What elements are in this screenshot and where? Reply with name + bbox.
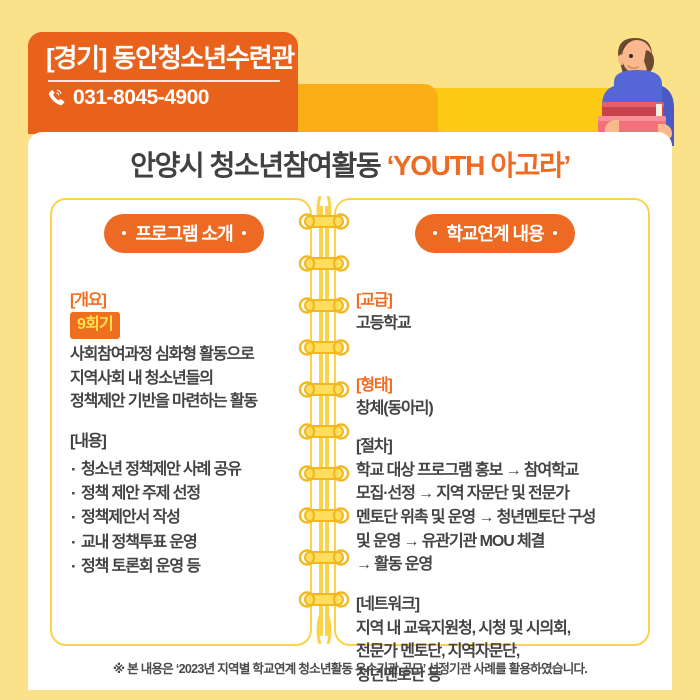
content-label: [내용] — [70, 430, 298, 454]
content-bullet-list: 청소년 정책제안 사례 공유 정책 제안 주제 선정 정책제안서 작성 교내 정… — [70, 458, 298, 580]
overview-label: [개요] — [70, 292, 106, 309]
program-intro-pill: 프로그램 소개 — [104, 214, 263, 253]
phone-number: 031-8045-4900 — [73, 86, 209, 110]
program-intro-card: 프로그램 소개 [개요] 9회기 사회참여과정 심화형 활동으로 지역사회 내 … — [50, 198, 312, 646]
type-row: [형태] 창체(동아리) — [356, 350, 634, 421]
section-gap — [356, 577, 634, 593]
list-item: 청소년 정책제안 사례 공유 — [70, 458, 298, 482]
grade-value: 고등학교 — [356, 315, 410, 332]
overview-badge: 9회기 — [70, 312, 120, 339]
school-linkage-pill-label: 학교연계 내용 — [446, 220, 543, 246]
infographic-card: [경기] 동안청소년수련관 031-8045-4900 안양시 청소년참여활동 … — [0, 0, 700, 700]
phone-icon — [46, 88, 66, 108]
list-item: 교내 정책투표 운영 — [70, 531, 298, 555]
list-item: 정책 토론회 운영 등 — [70, 555, 298, 579]
network-text: 지역 내 교육지원청, 시청 및 시의회, 전문가 멘토단, 지역자문단, 청년… — [356, 617, 634, 688]
list-item: 정책제안서 작성 — [70, 506, 298, 530]
phone-row: 031-8045-4900 — [46, 86, 282, 110]
school-linkage-pill-wrap: 학교연계 내용 — [356, 214, 634, 253]
organization-header: [경기] 동안청소년수련관 031-8045-4900 — [28, 32, 298, 134]
page-title-highlight: ‘YOUTH 아고라’ — [387, 150, 570, 181]
bullet-dot-icon — [433, 231, 437, 235]
section-gap — [70, 414, 298, 430]
header-divider — [48, 80, 280, 82]
spiral-binding-icon — [296, 196, 352, 644]
organization-name: [경기] 동안청소년수련관 — [46, 42, 282, 75]
overview-heading: [개요] 9회기 — [70, 265, 298, 339]
type-value: 창체(동아리) — [356, 400, 433, 417]
school-linkage-card: 학교연계 내용 [교급] 고등학교 [형태] 창체(동아리) [절차] 학교 대… — [334, 198, 650, 646]
bullet-dot-icon — [242, 231, 246, 235]
grade-label: [교급] — [356, 292, 392, 309]
grade-row: [교급] 고등학교 — [356, 265, 634, 336]
procedure-text: 학교 대상 프로그램 홍보 → 참여학교 모집·선정 → 지역 자문단 및 전문… — [356, 459, 634, 577]
procedure-label: [절차] — [356, 435, 634, 459]
footer-note: ※ 본 내용은 ‘2023년 지역별 학교연계 청소년활동 우수기관 공모’ 선… — [28, 658, 672, 677]
list-item: 정책 제안 주제 선정 — [70, 482, 298, 506]
student-holding-books-illustration — [584, 24, 694, 146]
network-label: [네트워크] — [356, 593, 634, 617]
bullet-dot-icon — [553, 231, 557, 235]
school-linkage-pill: 학교연계 내용 — [415, 214, 574, 253]
type-label: [형태] — [356, 377, 392, 394]
program-intro-pill-wrap: 프로그램 소개 — [70, 214, 298, 253]
page-title: 안양시 청소년참여활동 ‘YOUTH 아고라’ — [28, 144, 672, 184]
bullet-dot-icon — [122, 231, 126, 235]
program-intro-pill-label: 프로그램 소개 — [135, 220, 232, 246]
page-title-main: 안양시 청소년참여활동 — [130, 150, 386, 181]
overview-text: 사회참여과정 심화형 활동으로 지역사회 내 청소년들의 정책제안 기반을 마련… — [70, 343, 298, 414]
